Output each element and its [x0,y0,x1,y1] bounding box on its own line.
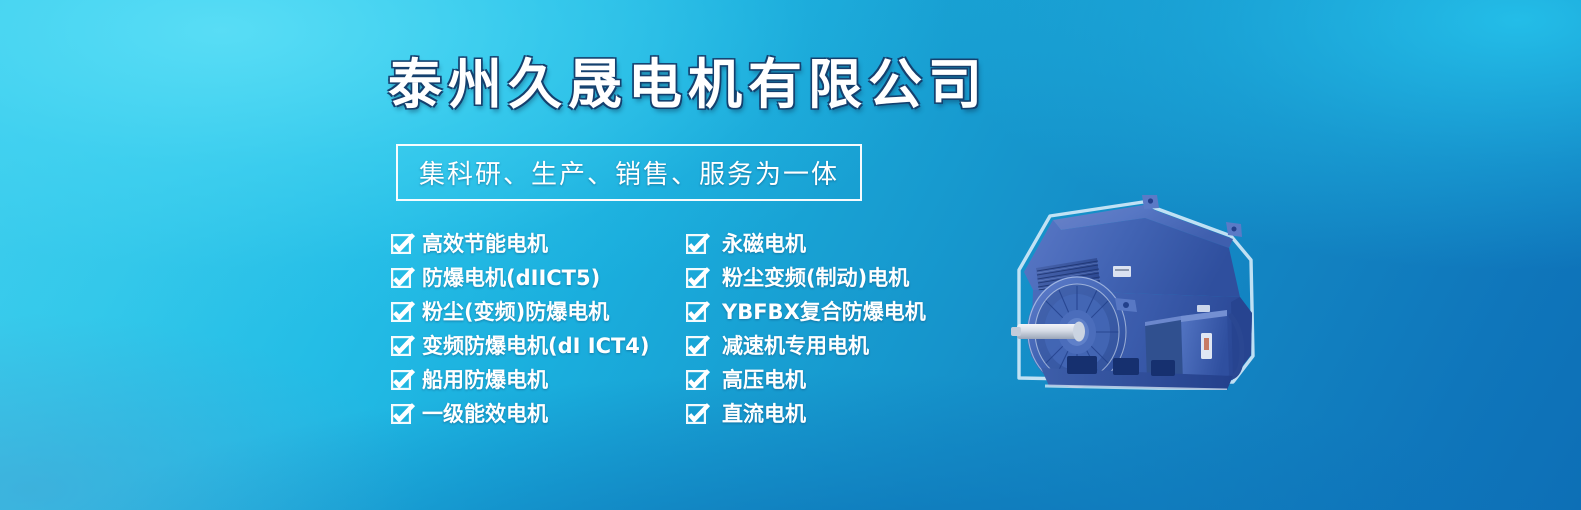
feature-label: 高压电机 [722,370,806,391]
feature-label: 一级能效电机 [422,404,548,425]
list-item: 高压电机 [686,363,951,397]
motor-shaft [1011,322,1085,342]
list-item: 船用防爆电机 [391,363,686,397]
checkbox-checked-icon [391,234,411,254]
checkbox-checked-icon [686,336,706,356]
checkbox-checked-icon [686,234,706,254]
feature-label: 防爆电机(dIICT5) [422,268,600,289]
list-item: YBFBX复合防爆电机 [686,295,951,329]
motor-terminal-box-main [1181,305,1229,382]
checkbox-checked-icon [686,370,706,390]
motor-foot-opening-left [1067,356,1097,374]
list-item: 粉尘(变频)防爆电机 [391,295,686,329]
list-item: 粉尘变频(制动)电机 [686,261,951,295]
feature-label: 减速机专用电机 [722,336,869,357]
feature-label: 永磁电机 [722,234,806,255]
feature-list: 高效节能电机 防爆电机(dIICT5) 粉尘 [391,227,951,431]
checkbox-checked-icon [391,268,411,288]
checkbox-checked-icon [686,268,706,288]
checkbox-checked-icon [686,302,706,322]
checkbox-checked-icon [391,302,411,322]
feature-label: 粉尘变频(制动)电机 [722,268,909,289]
feature-column-left: 高效节能电机 防爆电机(dIICT5) 粉尘 [391,227,686,431]
checkbox-checked-icon [391,404,411,424]
list-item: 高效节能电机 [391,227,686,261]
list-item: 直流电机 [686,397,951,431]
motor-foot-opening-right [1151,360,1175,376]
slogan-box: 集科研、生产、销售、服务为一体 [396,144,862,201]
feature-label: 直流电机 [722,404,806,425]
electric-motor-photo [1005,150,1270,390]
checkbox-checked-icon [391,336,411,356]
checkbox-checked-icon [391,370,411,390]
motor-foot-opening-mid [1113,358,1139,375]
motor-side-bracket [1115,298,1137,312]
checkbox-checked-icon [686,404,706,424]
feature-label: 粉尘(变频)防爆电机 [422,302,609,323]
promo-banner: 泰州久晟电机有限公司 集科研、生产、销售、服务为一体 高效节能电机 [0,0,1581,510]
feature-label: 变频防爆电机(dI ICT4) [422,336,650,357]
list-item: 一级能效电机 [391,397,686,431]
list-item: 防爆电机(dIICT5) [391,261,686,295]
list-item: 减速机专用电机 [686,329,951,363]
list-item: 永磁电机 [686,227,951,261]
feature-label: YBFBX复合防爆电机 [722,302,926,323]
motor-lifting-lug-rear [1226,222,1242,237]
list-item: 变频防爆电机(dI ICT4) [391,329,686,363]
slogan-text: 集科研、生产、销售、服务为一体 [419,154,839,191]
feature-column-right: 永磁电机 粉尘变频(制动)电机 YBFBX复 [686,227,951,431]
motor-lifting-lug-front [1142,195,1159,209]
feature-label: 船用防爆电机 [422,370,548,391]
feature-label: 高效节能电机 [422,234,548,255]
company-title: 泰州久晟电机有限公司 [388,58,988,112]
motor-nameplate [1113,266,1131,277]
